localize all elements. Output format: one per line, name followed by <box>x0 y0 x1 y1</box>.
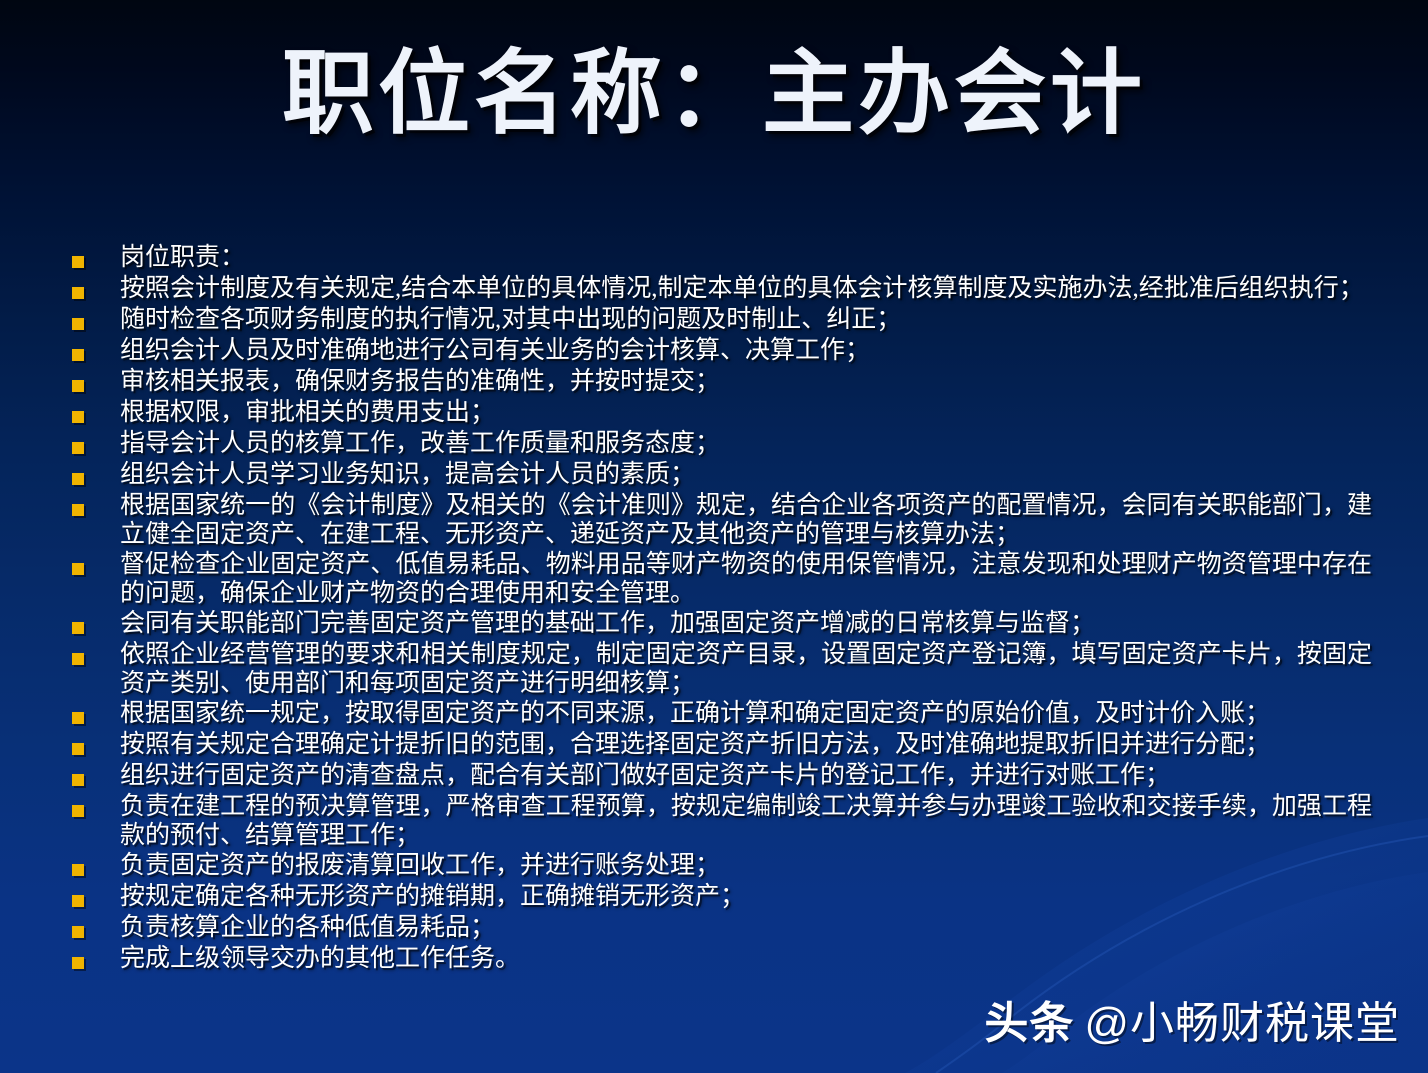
bullet-square-icon <box>72 318 84 330</box>
bullet-square-icon <box>72 653 84 665</box>
list-item-text: 根据权限，审批相关的费用支出； <box>120 398 1372 428</box>
list-item-text: 组织会计人员学习业务知识，提高会计人员的素质； <box>120 460 1372 490</box>
page-title: 职位名称：主办会计 <box>282 46 1146 143</box>
title-area: 职位名称：主办会计 <box>0 46 1428 143</box>
bullet-square-icon <box>72 895 84 907</box>
bullet-square-icon <box>72 622 84 634</box>
list-item: 岗位职责： <box>72 243 1372 273</box>
list-item-text: 组织进行固定资产的清查盘点，配合有关部门做好固定资产卡片的登记工作，并进行对账工… <box>120 761 1372 791</box>
watermark: 头条 @小畅财税课堂 <box>984 987 1400 1051</box>
bullet-square-icon <box>72 287 84 299</box>
list-item: 督促检查企业固定资产、低值易耗品、物料用品等财产物资的使用保管情况，注意发现和处… <box>72 550 1372 608</box>
list-item: 会同有关职能部门完善固定资产管理的基础工作，加强固定资产增减的日常核算与监督； <box>72 609 1372 639</box>
bullet-square-icon <box>72 442 84 454</box>
list-item: 审核相关报表，确保财务报告的准确性，并按时提交； <box>72 367 1372 397</box>
bullet-square-icon <box>72 743 84 755</box>
list-item: 组织会计人员及时准确地进行公司有关业务的会计核算、决算工作； <box>72 336 1372 366</box>
bullet-square-icon <box>72 805 84 817</box>
list-item-text: 按照有关规定合理确定计提折旧的范围，合理选择固定资产折旧方法，及时准确地提取折旧… <box>120 730 1372 760</box>
list-item-text: 会同有关职能部门完善固定资产管理的基础工作，加强固定资产增减的日常核算与监督； <box>120 609 1372 639</box>
bullet-square-icon <box>72 864 84 876</box>
list-item-text: 组织会计人员及时准确地进行公司有关业务的会计核算、决算工作； <box>120 336 1372 366</box>
bullet-square-icon <box>72 957 84 969</box>
list-item: 负责在建工程的预决算管理，严格审查工程预算，按规定编制竣工决算并参与办理竣工验收… <box>72 792 1372 850</box>
list-item: 根据国家统一的《会计制度》及相关的《会计准则》规定，结合企业各项资产的配置情况，… <box>72 491 1372 549</box>
bullet-square-icon <box>72 349 84 361</box>
bullet-square-icon <box>72 504 84 516</box>
bullet-list: 岗位职责： 按照会计制度及有关规定,结合本单位的具体情况,制定本单位的具体会计核… <box>72 243 1372 975</box>
list-item-text: 完成上级领导交办的其他工作任务。 <box>120 944 1372 974</box>
list-item-text: 审核相关报表，确保财务报告的准确性，并按时提交； <box>120 367 1372 397</box>
list-item-text: 岗位职责： <box>120 243 1372 273</box>
bullet-square-icon <box>72 926 84 938</box>
list-item: 组织会计人员学习业务知识，提高会计人员的素质； <box>72 460 1372 490</box>
list-item-text: 根据国家统一的《会计制度》及相关的《会计准则》规定，结合企业各项资产的配置情况，… <box>120 491 1372 549</box>
bullet-square-icon <box>72 563 84 575</box>
list-item: 负责固定资产的报废清算回收工作，并进行账务处理； <box>72 851 1372 881</box>
bullet-square-icon <box>72 256 84 268</box>
list-item: 按照有关规定合理确定计提折旧的范围，合理选择固定资产折旧方法，及时准确地提取折旧… <box>72 730 1372 760</box>
list-item-text: 指导会计人员的核算工作，改善工作质量和服务态度； <box>120 429 1372 459</box>
bullet-square-icon <box>72 774 84 786</box>
slide-canvas: 职位名称：主办会计 岗位职责： 按照会计制度及有关规定,结合本单位的具体情况,制… <box>0 0 1428 1073</box>
list-item-text: 按照会计制度及有关规定,结合本单位的具体情况,制定本单位的具体会计核算制度及实施… <box>120 274 1372 304</box>
list-item: 组织进行固定资产的清查盘点，配合有关部门做好固定资产卡片的登记工作，并进行对账工… <box>72 761 1372 791</box>
list-item-text: 督促检查企业固定资产、低值易耗品、物料用品等财产物资的使用保管情况，注意发现和处… <box>120 550 1372 608</box>
list-item-text: 负责在建工程的预决算管理，严格审查工程预算，按规定编制竣工决算并参与办理竣工验收… <box>120 792 1372 850</box>
bullet-square-icon <box>72 411 84 423</box>
bullet-square-icon <box>72 380 84 392</box>
list-item: 按照会计制度及有关规定,结合本单位的具体情况,制定本单位的具体会计核算制度及实施… <box>72 274 1372 304</box>
list-item-text: 按规定确定各种无形资产的摊销期，正确摊销无形资产； <box>120 882 1372 912</box>
bullet-square-icon <box>72 712 84 724</box>
list-item-text: 随时检查各项财务制度的执行情况,对其中出现的问题及时制止、纠正； <box>120 305 1372 335</box>
list-item-text: 根据国家统一规定，按取得固定资产的不同来源，正确计算和确定固定资产的原始价值，及… <box>120 699 1372 729</box>
list-item: 根据权限，审批相关的费用支出； <box>72 398 1372 428</box>
list-item: 按规定确定各种无形资产的摊销期，正确摊销无形资产； <box>72 882 1372 912</box>
list-item: 依照企业经营管理的要求和相关制度规定，制定固定资产目录，设置固定资产登记簿，填写… <box>72 640 1372 698</box>
watermark-brand: 头条 <box>984 987 1074 1051</box>
watermark-handle: @小畅财税课堂 <box>1084 987 1400 1051</box>
list-item: 随时检查各项财务制度的执行情况,对其中出现的问题及时制止、纠正； <box>72 305 1372 335</box>
list-item: 完成上级领导交办的其他工作任务。 <box>72 944 1372 974</box>
list-item: 根据国家统一规定，按取得固定资产的不同来源，正确计算和确定固定资产的原始价值，及… <box>72 699 1372 729</box>
list-item-text: 依照企业经营管理的要求和相关制度规定，制定固定资产目录，设置固定资产登记簿，填写… <box>120 640 1372 698</box>
list-item: 指导会计人员的核算工作，改善工作质量和服务态度； <box>72 429 1372 459</box>
list-item-text: 负责核算企业的各种低值易耗品； <box>120 913 1372 943</box>
list-item: 负责核算企业的各种低值易耗品； <box>72 913 1372 943</box>
bullet-square-icon <box>72 473 84 485</box>
list-item-text: 负责固定资产的报废清算回收工作，并进行账务处理； <box>120 851 1372 881</box>
